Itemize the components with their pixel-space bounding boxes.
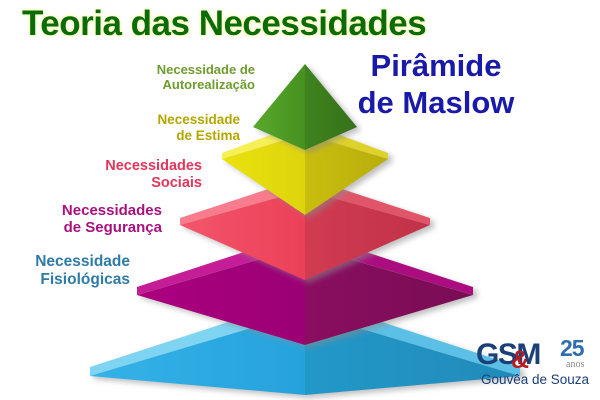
logo-years-word: anos: [566, 359, 584, 370]
level-label-fisiologicas-line-2: Fisiológicas: [35, 271, 130, 289]
level-label-estima-line-1: Necessidade: [157, 112, 240, 128]
subtitle-line-2: de Maslow: [286, 85, 586, 122]
level-label-seguranca-line-2: de Segurança: [62, 219, 162, 236]
company-logo: GSM & 25 anos Gouvêa de Souza: [474, 340, 596, 394]
maslow-pyramid-infographic: Teoria das Necessidades Pirâmide de Masl…: [0, 0, 600, 400]
logo-gsm-text: GSM: [476, 338, 540, 372]
level-label-autorealizacao-line-2: Autorealização: [157, 77, 255, 92]
logo-company-name: Gouvêa de Souza: [474, 372, 596, 387]
logo-ampersand: &: [511, 346, 529, 375]
level-label-autorealizacao-line-1: Necessidade de: [157, 62, 255, 77]
level-label-fisiologicas-line-1: Necessidade: [35, 253, 130, 271]
level-label-autorealizacao: Necessidade de Autorealização: [157, 62, 255, 92]
logo-years-number: 25: [560, 335, 584, 362]
level-label-estima-line-2: de Estima: [157, 128, 240, 144]
level-label-estima: Necessidade de Estima: [157, 112, 240, 143]
level-label-fisiologicas: Necessidade Fisiológicas: [35, 253, 130, 289]
level-label-sociais-line-1: Necessidades: [105, 158, 202, 175]
subtitle: Pirâmide de Maslow: [286, 48, 586, 121]
page-title: Teoria das Necessidades: [22, 4, 542, 44]
level-label-sociais-line-2: Sociais: [105, 175, 202, 192]
subtitle-line-1: Pirâmide: [371, 48, 502, 83]
level-label-seguranca-line-1: Necessidades: [62, 202, 162, 219]
logo-wordmark: GSM & 25 anos: [474, 340, 596, 373]
level-label-sociais: Necessidades Sociais: [105, 158, 202, 192]
level-label-seguranca: Necessidades de Segurança: [62, 202, 162, 237]
